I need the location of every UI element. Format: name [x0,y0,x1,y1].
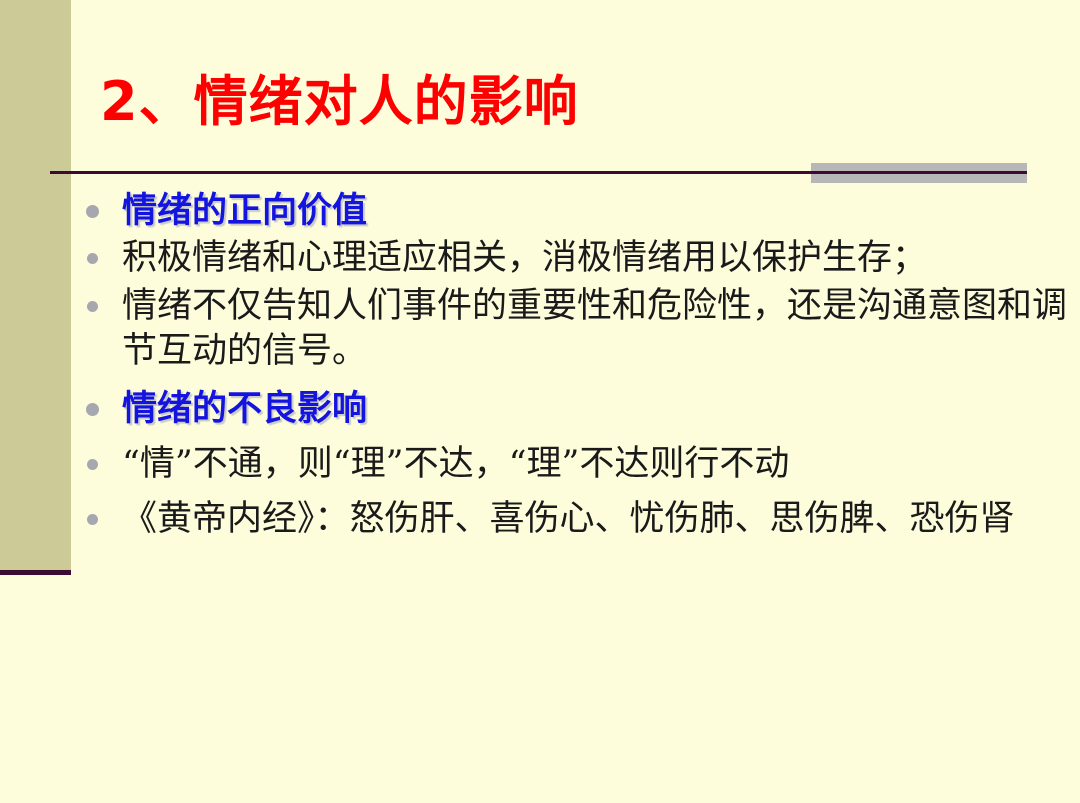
slide-title: 2、情绪对人的影响 [100,68,579,136]
list-item-label: 情绪的正向价值 [122,188,1068,234]
decorative-left-band [0,0,71,570]
bullet-marker-icon [87,459,98,470]
list-item: 情绪不仅告知人们事件的重要性和危险性，还是沟通意图和调节互动的信号。 [78,284,1068,374]
list-item-label: 《黄帝内经》：怒伤肝、喜伤心、忧伤肺、思伤脾、恐伤肾 [122,497,1068,542]
bullet-marker-icon [86,205,99,218]
bullet-list: 情绪的正向价值 积极情绪和心理适应相关，消极情绪用以保护生存； 情绪不仅告知人们… [78,188,1068,542]
list-item: 积极情绪和心理适应相关，消极情绪用以保护生存； [78,236,1068,281]
list-item-label: 情绪的不良影响 [122,386,1068,432]
bullet-marker-icon [87,253,98,264]
slide-canvas: 2、情绪对人的影响 情绪的正向价值 积极情绪和心理适应相关，消极情绪用以保护生存… [0,0,1080,803]
decorative-left-band-foot [0,570,71,575]
list-item: “情”不通，则“理”不达，“理”不达则行不动 [78,442,1068,487]
bullet-marker-icon [87,514,98,525]
bullet-marker-icon [87,301,98,312]
bullet-marker-icon [86,403,99,416]
list-item-label: “情”不通，则“理”不达，“理”不达则行不动 [122,442,1068,487]
list-item: 情绪的不良影响 [78,386,1068,432]
list-item: 《黄帝内经》：怒伤肝、喜伤心、忧伤肺、思伤脾、恐伤肾 [78,497,1068,542]
list-item-label: 情绪不仅告知人们事件的重要性和危险性，还是沟通意图和调节互动的信号。 [122,284,1068,374]
title-divider-rule [50,171,1027,174]
list-item: 情绪的正向价值 [78,188,1068,234]
list-item-label: 积极情绪和心理适应相关，消极情绪用以保护生存； [122,236,1068,281]
